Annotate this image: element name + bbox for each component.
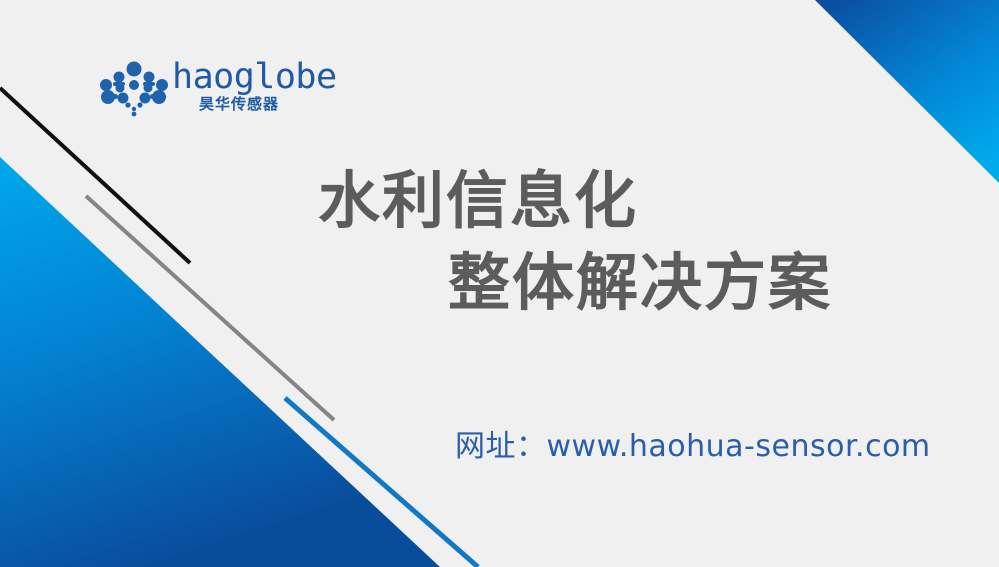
logo-subtitle: 昊华传感器	[199, 97, 279, 112]
website-label: 网址：	[455, 429, 547, 464]
brand-logo: haoglobe 昊华传感器	[98, 57, 313, 123]
page-title: 水利信息化 整体解决方案	[0, 160, 999, 324]
logo-text: haoglobe 昊华传感器	[172, 57, 312, 121]
logo-wordmark: haoglobe	[172, 60, 337, 95]
website-url[interactable]: www.haohua-sensor.com	[547, 429, 931, 464]
right-blue-triangle	[815, 0, 999, 183]
website-line: 网址：www.haohua-sensor.com	[455, 421, 931, 465]
title-line-1: 水利信息化	[0, 160, 999, 242]
slide-canvas: haoglobe 昊华传感器 水利信息化 整体解决方案 网址：www.haohu…	[0, 0, 999, 567]
network-nodes-logo-icon	[98, 61, 170, 117]
title-line-2: 整体解决方案	[0, 242, 999, 324]
blue-diagonal-line	[285, 398, 478, 567]
